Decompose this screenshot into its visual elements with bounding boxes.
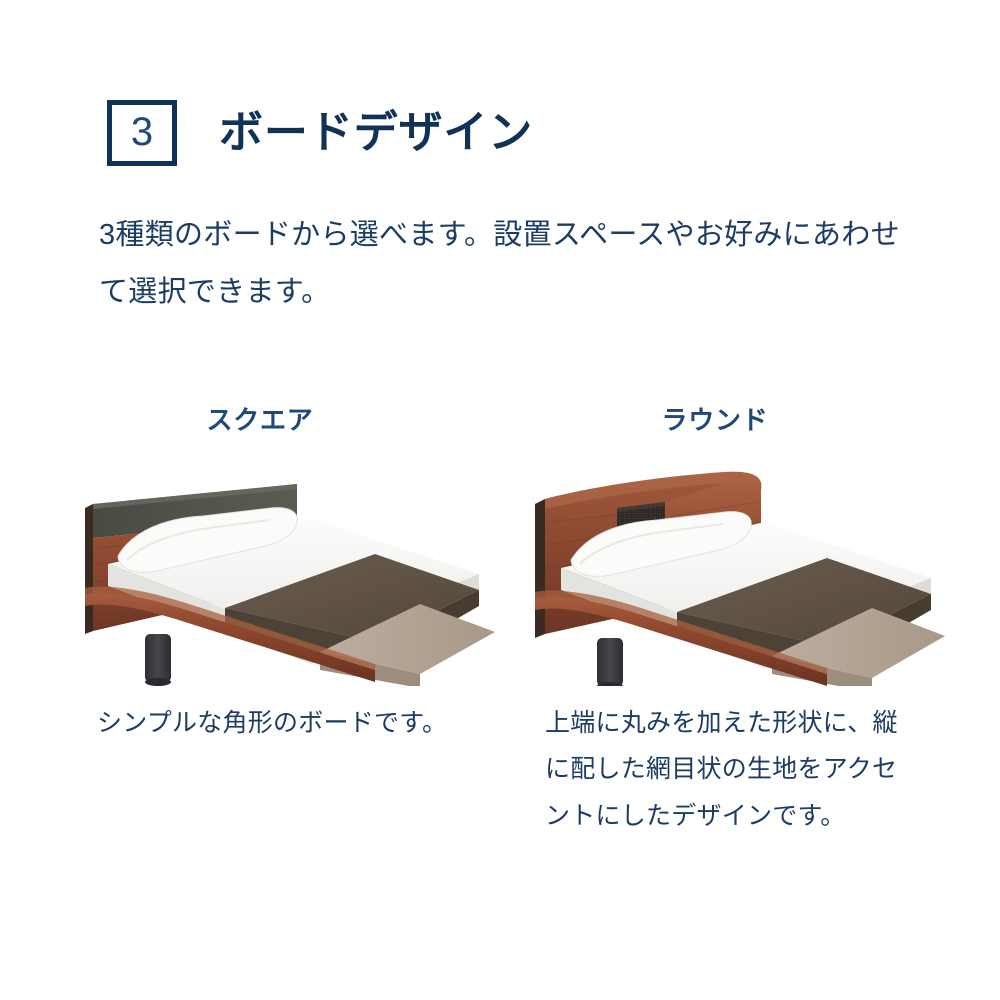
section-title: ボードデザイン	[219, 111, 533, 155]
section-lead: 3種類のボードから選べます。設置スペースやお好みにあわせて選択できます。	[99, 207, 929, 320]
section-heading: 3 ボードデザイン	[107, 100, 533, 166]
board-option-square: スクエア	[75, 400, 515, 839]
board-option-round-image	[525, 456, 945, 686]
board-option-round: ラウンド	[525, 400, 965, 839]
board-option-round-title: ラウンド	[525, 400, 965, 440]
bed-illustration-round	[525, 456, 945, 686]
board-option-round-caption-text: 上端に丸みを加えた形状に、縦に配した網目状の生地をアクセントにしたデザインです。	[545, 700, 905, 839]
bed-illustration-square	[75, 456, 495, 686]
section-number-badge: 3	[107, 100, 177, 166]
section-lead-text: 3種類のボードから選べます。設置スペースやお好みにあわせて選択できます。	[99, 207, 929, 320]
board-options: スクエア	[0, 400, 1000, 839]
board-design-section: 3 ボードデザイン 3種類のボードから選べます。設置スペースやお好みにあわせて選…	[0, 0, 1000, 1000]
section-number: 3	[131, 112, 153, 152]
board-option-square-caption-text: シンプルな角形のボードです。	[97, 700, 457, 746]
board-option-square-image	[75, 456, 495, 686]
board-option-square-caption: シンプルな角形のボードです。	[97, 700, 457, 746]
board-option-square-title: スクエア	[75, 400, 515, 440]
board-option-round-caption: 上端に丸みを加えた形状に、縦に配した網目状の生地をアクセントにしたデザインです。	[545, 700, 905, 839]
